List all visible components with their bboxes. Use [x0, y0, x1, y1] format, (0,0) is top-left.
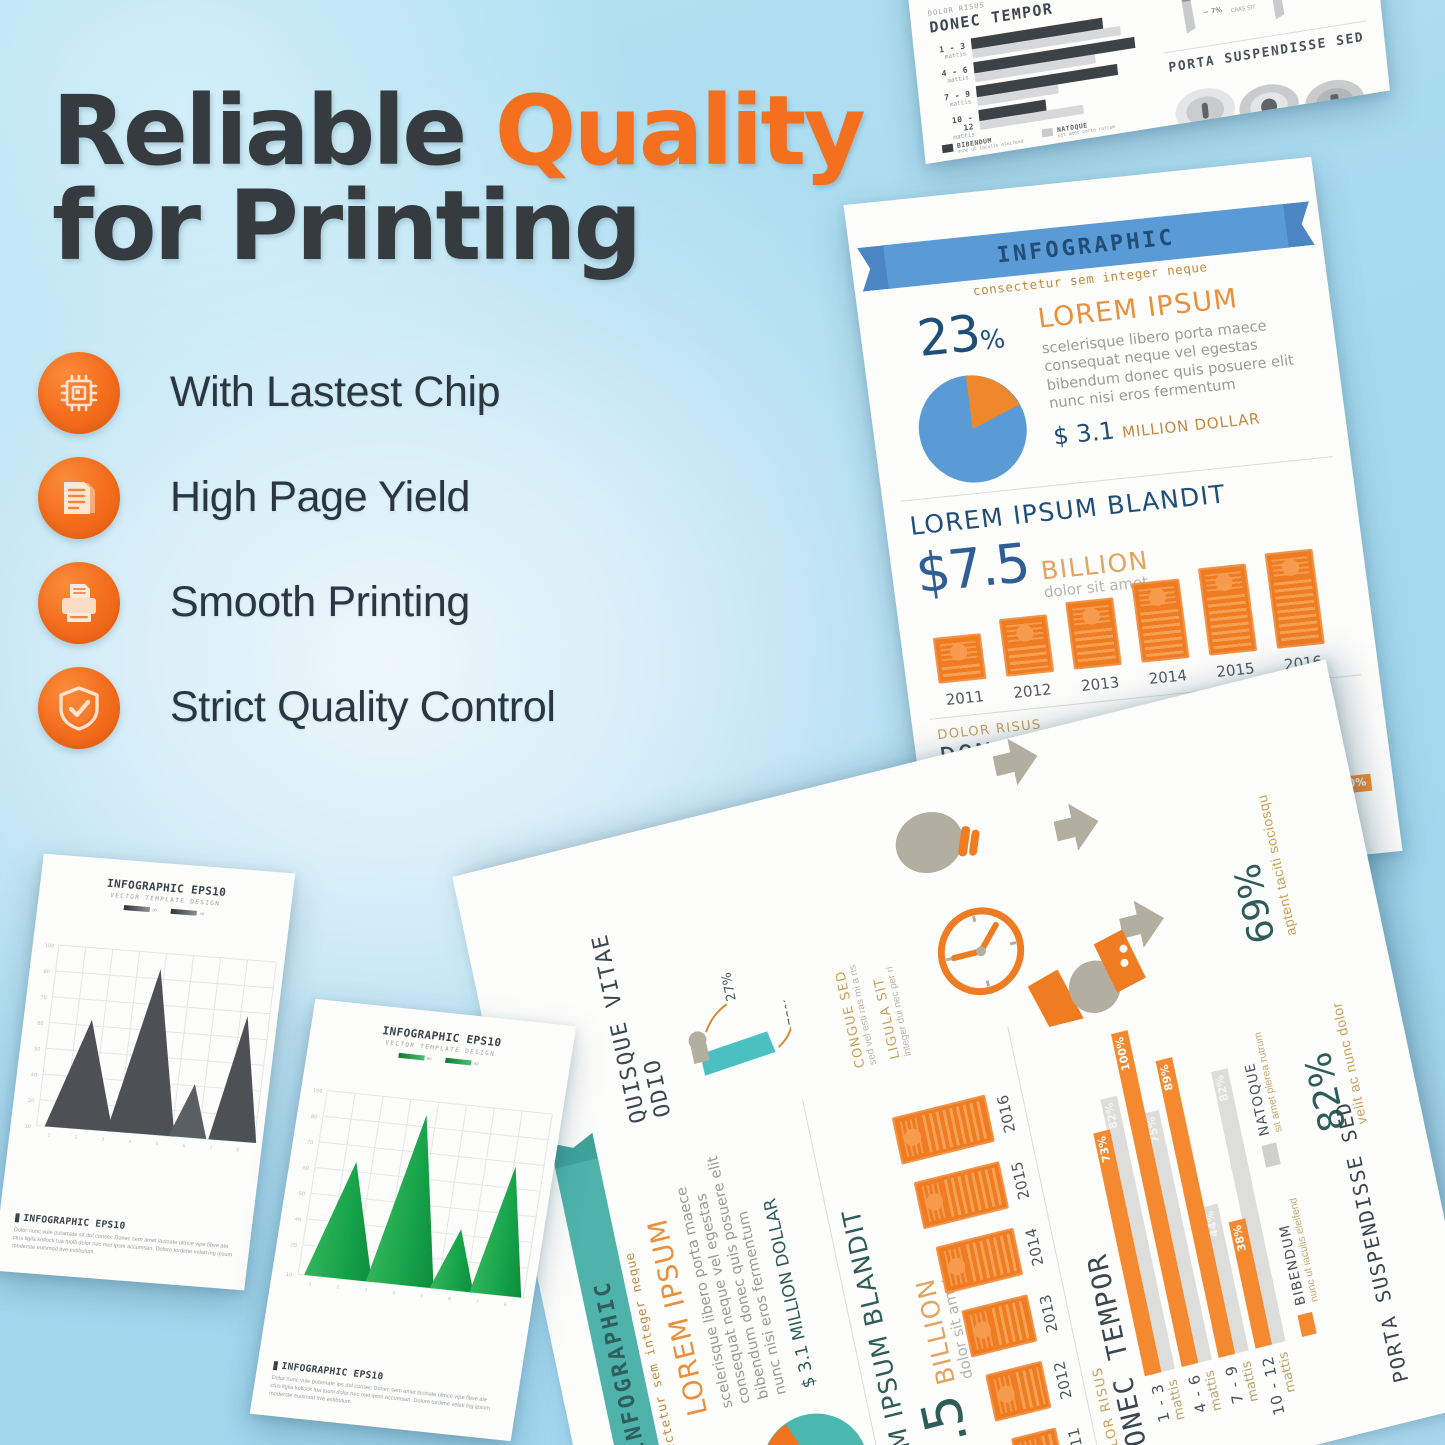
year-bar — [961, 1294, 1037, 1357]
feature-item-quality-control[interactable]: Strict Quality Control — [38, 655, 738, 760]
peaks-green-chart: 1008070 605040 2010 123 456 78 — [265, 1082, 563, 1346]
svg-text:3: 3 — [101, 1137, 105, 1143]
ribbon-title: INFOGRAPHIC — [995, 225, 1176, 268]
svg-text:4: 4 — [392, 1290, 396, 1296]
feature-label: With Lastest Chip — [170, 368, 500, 417]
year-label: 2011 — [1062, 1415, 1092, 1445]
year-label: 2014 — [1020, 1216, 1050, 1279]
arrow-up-icon-3 — [990, 732, 1043, 790]
svg-text:20: 20 — [27, 1098, 34, 1104]
svg-text:100: 100 — [312, 1088, 322, 1095]
svg-text:20: 20 — [290, 1242, 297, 1249]
teal-porta-title: PORTA SUSPENDISSE SED — [1330, 1099, 1413, 1385]
svg-text:1: 1 — [47, 1133, 51, 1139]
feature-list: With Lastest Chip High Page Yield — [38, 340, 738, 760]
feature-item-smooth-printing[interactable]: Smooth Printing — [38, 550, 738, 655]
feature-label: Strict Quality Control — [170, 683, 556, 732]
year-bar — [933, 633, 987, 684]
svg-text:7: 7 — [209, 1145, 213, 1151]
document-page-icon — [38, 457, 120, 539]
svg-text:8: 8 — [236, 1147, 240, 1153]
year-bar — [1011, 1427, 1066, 1445]
svg-text:73%: 73% — [781, 994, 802, 1026]
year-bar — [999, 614, 1054, 676]
year-bar — [1198, 564, 1257, 656]
feature-item-chip[interactable]: With Lastest Chip — [38, 340, 738, 445]
sheet-peaks-gray: INFOGRAPHIC EPS10 VECTOR TEMPLATE DESIGN… — [0, 854, 295, 1291]
feature-label: Smooth Printing — [170, 578, 470, 627]
svg-text:10: 10 — [24, 1124, 31, 1130]
svg-text:4: 4 — [128, 1139, 132, 1145]
svg-text:2: 2 — [336, 1284, 340, 1290]
poster-canvas: DOLOR RISUS DONEC TEMPOR 1 - 3 mattis — [0, 0, 1445, 1445]
year-bar — [936, 1228, 1024, 1294]
svg-text:70: 70 — [40, 995, 47, 1001]
legend-swatch-bibendum — [1298, 1312, 1317, 1337]
year-label: 2012 — [1001, 679, 1063, 703]
page-title: Reliable Quality for Printing — [52, 84, 912, 274]
svg-text:50: 50 — [298, 1191, 305, 1198]
year-label: 2011 — [934, 686, 996, 710]
svg-text:50: 50 — [34, 1046, 41, 1052]
year-label: 2013 — [1069, 672, 1131, 696]
svg-text:60: 60 — [37, 1021, 44, 1027]
feature-label: High Page Yield — [170, 473, 470, 522]
money-value: $ 3.1 — [1052, 416, 1116, 450]
svg-text:~ 7%: ~ 7% — [1203, 6, 1223, 17]
svg-text:100: 100 — [44, 943, 54, 950]
svg-text:CRAS SIT: CRAS SIT — [1231, 4, 1257, 14]
svg-text:40: 40 — [30, 1072, 37, 1078]
year-bar — [1265, 549, 1325, 649]
feature-item-page-yield[interactable]: High Page Yield — [38, 445, 738, 550]
svg-text:2: 2 — [74, 1135, 78, 1141]
chip-icon — [38, 352, 120, 434]
arrow-up-icon — [1051, 797, 1104, 855]
pie-chart — [901, 359, 1045, 499]
svg-text:80: 80 — [43, 969, 50, 975]
svg-text:40: 40 — [294, 1217, 301, 1224]
shield-check-icon — [38, 667, 120, 749]
svg-text:70: 70 — [306, 1140, 313, 1147]
year-bar — [1131, 578, 1189, 662]
peaks-gray-chart: 1008070 605040 2010 123 456 78 — [6, 937, 285, 1185]
year-bar — [985, 1361, 1051, 1422]
headline-line2: for Printing — [52, 179, 912, 274]
year-label: 2012 — [1048, 1349, 1078, 1412]
svg-text:5: 5 — [420, 1293, 424, 1299]
lightbulb-icon — [890, 805, 968, 880]
svg-text:7: 7 — [475, 1299, 479, 1305]
svg-text:8: 8 — [503, 1302, 507, 1308]
year-label: 2015 — [1006, 1149, 1036, 1212]
svg-text:60: 60 — [302, 1165, 309, 1172]
year-bar — [914, 1161, 1009, 1229]
money-unit: MILLION DOLLAR — [1121, 409, 1261, 441]
svg-text:10: 10 — [285, 1272, 292, 1279]
year-bar — [1065, 597, 1122, 669]
printer-icon — [38, 562, 120, 644]
year-label: 2013 — [1034, 1282, 1064, 1345]
legend-swatch-natoque — [1261, 1142, 1280, 1167]
svg-text:3: 3 — [364, 1287, 368, 1293]
svg-text:5: 5 — [155, 1141, 159, 1147]
svg-text:6: 6 — [448, 1296, 452, 1302]
svg-text:1: 1 — [308, 1281, 312, 1287]
year-label: 2016 — [991, 1082, 1021, 1145]
svg-text:80: 80 — [310, 1114, 317, 1121]
year-label: 2014 — [1137, 665, 1199, 689]
svg-text:6: 6 — [182, 1143, 186, 1149]
year-bar — [892, 1095, 995, 1165]
svg-text:~ 42%: ~ 42% — [1291, 0, 1316, 3]
svg-text:27%: 27% — [719, 971, 740, 1003]
